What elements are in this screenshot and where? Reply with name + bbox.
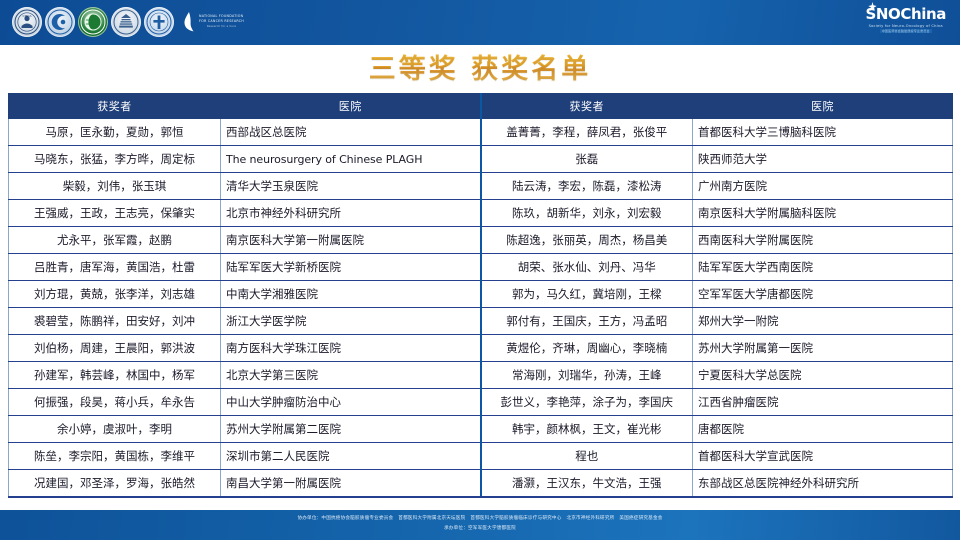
cell-left_name: 马原，匡永勤，夏勋，郭恒 — [9, 119, 221, 146]
column-header-hospital-right: 医院 — [693, 94, 953, 119]
bottom-banner: 协办单位：中国抗癌协会脑胶质瘤专业委员会 首都医科大学附属北京天坛医院 首都医科… — [0, 510, 960, 540]
cell-left_name: 况建国，邓圣泽，罗海，张皓然 — [9, 470, 221, 498]
table-row: 马原，匡永勤，夏勋，郭恒西部战区总医院盖菁菁，李程，薛凤君，张俊平首都医科大学三… — [9, 119, 953, 146]
cell-right_hospital: 西南医科大学附属医院 — [693, 227, 953, 254]
nfcr-line3: Research for a Cure — [199, 26, 244, 29]
nfcr-line2: FOR CANCER RESEARCH — [199, 20, 244, 23]
cross-seal-icon — [144, 7, 174, 37]
table-row: 王强威，王政，王志亮，保肇实北京市神经外科研究所陈玖，胡新华，刘永，刘宏毅南京医… — [9, 200, 953, 227]
cell-right_name: 韩宇，颜林枫，王文，崔光彬 — [481, 416, 693, 443]
cell-left_hospital: 中山大学肿瘤防治中心 — [221, 389, 481, 416]
cell-right_hospital: 广州南方医院 — [693, 173, 953, 200]
cell-right_name: 陆云涛，李宏，陈磊，漆松涛 — [481, 173, 693, 200]
cell-left_hospital: 南昌大学第一附属医院 — [221, 470, 481, 498]
cell-right_hospital: 陆军军医大学西南医院 — [693, 254, 953, 281]
cell-right_hospital: 苏州大学附属第一医院 — [693, 335, 953, 362]
cell-left_name: 刘伯杨，周建，王晨阳，郭洪波 — [9, 335, 221, 362]
cell-left_hospital: 北京大学第三医院 — [221, 362, 481, 389]
csco-seal-icon — [45, 7, 75, 37]
cell-right_name: 郭付有，王国庆，王方，冯孟昭 — [481, 308, 693, 335]
awards-table-wrapper: 获奖者 医院 获奖者 医院 马原，匡永勤，夏勋，郭恒西部战区总医院盖菁菁，李程，… — [8, 93, 952, 498]
cell-left_name: 吕胜青，唐军海，黄国浩，杜雷 — [9, 254, 221, 281]
cell-left_hospital: The neurosurgery of Chinese PLAGH — [221, 146, 481, 173]
cell-left_name: 陈垒，李宗阳，黄国栋，李维平 — [9, 443, 221, 470]
table-row: 刘方琨，黄兢，张李洋，刘志雄中南大学湘雅医院郭为，马久红，冀培刚，王樑空军军医大… — [9, 281, 953, 308]
table-header-row: 获奖者 医院 获奖者 医院 — [9, 94, 953, 119]
cell-left_name: 王强威，王政，王志亮，保肇实 — [9, 200, 221, 227]
column-header-winner-left: 获奖者 — [9, 94, 221, 119]
cell-left_hospital: 深圳市第二人民医院 — [221, 443, 481, 470]
cell-right_hospital: 陕西师范大学 — [693, 146, 953, 173]
cell-right_name: 郭为，马久红，冀培刚，王樑 — [481, 281, 693, 308]
cell-right_name: 陈玖，胡新华，刘永，刘宏毅 — [481, 200, 693, 227]
cell-left_name: 孙建军，韩芸峰，林国中，杨军 — [9, 362, 221, 389]
nfcr-logo: NATIONAL FOUNDATION FOR CANCER RESEARCH … — [183, 11, 244, 33]
cell-left_name: 裘碧莹，陈鹏祥，田安好，刘冲 — [9, 308, 221, 335]
cell-right_hospital: 唐都医院 — [693, 416, 953, 443]
cell-right_name: 潘灏，王汉东，牛文浩，王强 — [481, 470, 693, 498]
nfcr-flame-icon — [183, 11, 196, 33]
table-row: 马晓东，张猛，李方晔，周定标The neurosurgery of Chines… — [9, 146, 953, 173]
table-row: 陈垒，李宗阳，黄国栋，李维平深圳市第二人民医院程也首都医科大学宣武医院 — [9, 443, 953, 470]
partner-logo-row: CMDA — [12, 7, 244, 37]
cell-left_hospital: 清华大学玉泉医院 — [221, 173, 481, 200]
column-header-hospital-left: 医院 — [221, 94, 481, 119]
cell-right_hospital: 南京医科大学附属脑科医院 — [693, 200, 953, 227]
slide-root: CMDA — [0, 0, 960, 540]
svg-text:CMDA: CMDA — [23, 14, 33, 18]
cell-right_hospital: 空军军医大学唐都医院 — [693, 281, 953, 308]
page-title: 三等奖 获奖名单 — [0, 47, 960, 86]
snochina-subtitle: Society for Neuro-Oncology of China — [869, 24, 943, 28]
cma-seal-icon: CMDA — [12, 7, 42, 37]
cell-left_hospital: 中南大学湘雅医院 — [221, 281, 481, 308]
table-row: 尤永平，张军霞，赵鹏南京医科大学第一附属医院陈超逸，张丽英，周杰，杨昌美西南医科… — [9, 227, 953, 254]
star-icon — [868, 2, 877, 11]
table-row: 裘碧莹，陈鹏祥，田安好，刘冲浙江大学医学院郭付有，王国庆，王方，冯孟昭郑州大学一… — [9, 308, 953, 335]
table-row: 柴毅，刘伟，张玉琪清华大学玉泉医院陆云涛，李宏，陈磊，漆松涛广州南方医院 — [9, 173, 953, 200]
cell-left_hospital: 北京市神经外科研究所 — [221, 200, 481, 227]
cell-left_hospital: 浙江大学医学院 — [221, 308, 481, 335]
table-row: 孙建军，韩芸峰，林国中，杨军北京大学第三医院常海刚，刘瑞华，孙涛，王峰宁夏医科大… — [9, 362, 953, 389]
footer-line-1: 协办单位：中国抗癌协会脑胶质瘤专业委员会 首都医科大学附属北京天坛医院 首都医科… — [0, 515, 960, 521]
column-header-winner-right: 获奖者 — [481, 94, 693, 119]
top-banner: CMDA — [0, 0, 960, 45]
awards-table: 获奖者 医院 获奖者 医院 马原，匡永勤，夏勋，郭恒西部战区总医院盖菁菁，李程，… — [8, 93, 953, 498]
cell-right_hospital: 首都医科大学三博脑科医院 — [693, 119, 953, 146]
cell-right_name: 彭世义，李艳萍，涂子为，李国庆 — [481, 389, 693, 416]
table-row: 况建国，邓圣泽，罗海，张皓然南昌大学第一附属医院潘灏，王汉东，牛文浩，王强东部战… — [9, 470, 953, 498]
cell-right_name: 张磊 — [481, 146, 693, 173]
table-row: 余小婷，虞淑叶，李明苏州大学附属第二医院韩宇，颜林枫，王文，崔光彬唐都医院 — [9, 416, 953, 443]
snochina-subtitle-cn: 中国医师协会脑胶质瘤专业委员会 — [880, 29, 932, 33]
cell-right_name: 胡荣、张水仙、刘丹、冯华 — [481, 254, 693, 281]
cell-left_hospital: 陆军军医大学新桥医院 — [221, 254, 481, 281]
cell-right_hospital: 宁夏医科大学总医院 — [693, 362, 953, 389]
cell-left_hospital: 苏州大学附属第二医院 — [221, 416, 481, 443]
cell-right_hospital: 东部战区总医院神经外科研究所 — [693, 470, 953, 498]
cell-left_name: 刘方琨，黄兢，张李洋，刘志雄 — [9, 281, 221, 308]
cell-left_name: 何振强，段昊，蒋小兵，牟永告 — [9, 389, 221, 416]
cell-right_name: 程也 — [481, 443, 693, 470]
cell-left_name: 余小婷，虞淑叶，李明 — [9, 416, 221, 443]
awards-table-body: 马原，匡永勤，夏勋，郭恒西部战区总医院盖菁菁，李程，薛凤君，张俊平首都医科大学三… — [9, 119, 953, 498]
footer-line-2: 承办单位：空军军医大学唐都医院 — [0, 525, 960, 531]
cell-right_hospital: 江西省肿瘤医院 — [693, 389, 953, 416]
cell-left_hospital: 西部战区总医院 — [221, 119, 481, 146]
cell-right_name: 黄煜伦，齐琳，周幽心，李晓楠 — [481, 335, 693, 362]
cell-left_name: 柴毅，刘伟，张玉琪 — [9, 173, 221, 200]
cell-right_name: 常海刚，刘瑞华，孙涛，王峰 — [481, 362, 693, 389]
snochina-wordmark: SNOChina — [865, 7, 946, 22]
cell-right_name: 陈超逸，张丽英，周杰，杨昌美 — [481, 227, 693, 254]
cell-left_name: 尤永平，张军霞，赵鹏 — [9, 227, 221, 254]
green-globe-seal-icon — [78, 7, 108, 37]
cell-right_hospital: 郑州大学一附院 — [693, 308, 953, 335]
cell-left_hospital: 南京医科大学第一附属医院 — [221, 227, 481, 254]
cell-right_hospital: 首都医科大学宣武医院 — [693, 443, 953, 470]
cell-left_name: 马晓东，张猛，李方晔，周定标 — [9, 146, 221, 173]
cell-right_name: 盖菁菁，李程，薛凤君，张俊平 — [481, 119, 693, 146]
table-row: 何振强，段昊，蒋小兵，牟永告中山大学肿瘤防治中心彭世义，李艳萍，涂子为，李国庆江… — [9, 389, 953, 416]
cell-left_hospital: 南方医科大学珠江医院 — [221, 335, 481, 362]
table-row: 刘伯杨，周建，王晨阳，郭洪波南方医科大学珠江医院黄煜伦，齐琳，周幽心，李晓楠苏州… — [9, 335, 953, 362]
snochina-logo: SNOChina Society for Neuro-Oncology of C… — [865, 7, 946, 33]
temple-seal-icon — [111, 7, 141, 37]
table-row: 吕胜青，唐军海，黄国浩，杜雷陆军军医大学新桥医院胡荣、张水仙、刘丹、冯华陆军军医… — [9, 254, 953, 281]
